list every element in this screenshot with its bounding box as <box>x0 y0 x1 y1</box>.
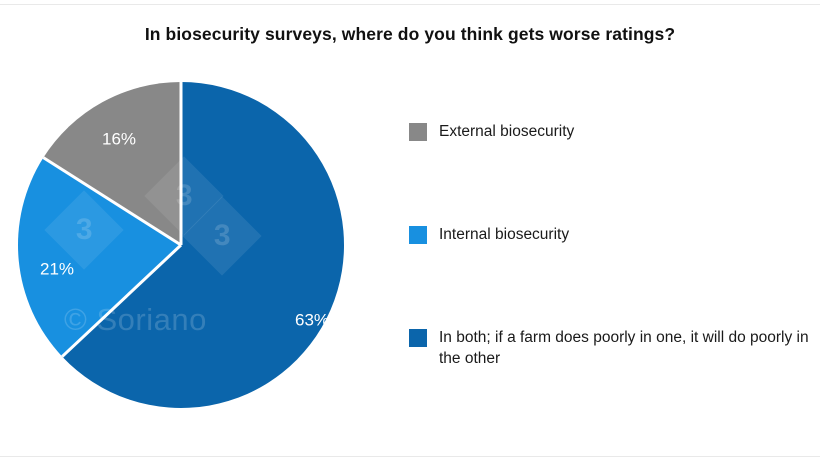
pie-label-internal-biosecurity: 21% <box>40 259 74 278</box>
legend-label: In both; if a farm does poorly in one, i… <box>439 328 809 369</box>
legend-label: Internal biosecurity <box>439 225 569 246</box>
legend-item-external-biosecurity[interactable]: External biosecurity <box>409 122 809 143</box>
legend-swatch-icon <box>409 329 427 347</box>
pie-label-in-both: 63% <box>295 310 329 329</box>
pie-value-labels: 63% 21% 16% <box>16 80 352 410</box>
legend-swatch-icon <box>409 226 427 244</box>
pie-label-external-biosecurity: 16% <box>102 129 136 148</box>
legend-label: External biosecurity <box>439 122 574 143</box>
pie-chart-figure: In biosecurity surveys, where do you thi… <box>0 0 820 461</box>
legend-item-in-both[interactable]: In both; if a farm does poorly in one, i… <box>409 328 809 369</box>
pie-chart-area: 3 3 3 © Soriano 63% 21% 16% <box>16 80 352 410</box>
chart-title: In biosecurity surveys, where do you thi… <box>0 24 820 45</box>
legend-item-internal-biosecurity[interactable]: Internal biosecurity <box>409 225 809 246</box>
legend-swatch-icon <box>409 123 427 141</box>
